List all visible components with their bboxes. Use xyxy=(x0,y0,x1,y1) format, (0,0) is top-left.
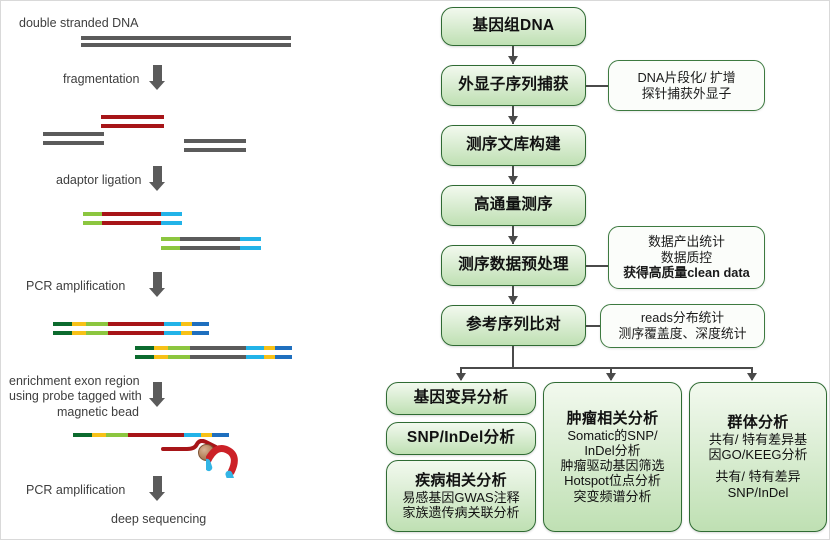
amplified-gray-bottom xyxy=(135,355,292,359)
arrow-fragmentation xyxy=(149,65,165,90)
step-label-enrichment: enrichment exon region using probe tagge… xyxy=(9,374,139,420)
figure-canvas: double stranded DNA fragmentation adapto… xyxy=(0,0,830,540)
flow-node-subline: Hotspot位点分析 xyxy=(564,473,661,488)
arrow-pcr-2 xyxy=(149,476,165,501)
flow-node-title: SNP/InDel分析 xyxy=(407,429,515,447)
arrow-pcr-1 xyxy=(149,272,165,297)
arrow-enrichment xyxy=(149,382,165,407)
note-line: DNA片段化/ 扩增 xyxy=(637,70,735,86)
flow-node-subline: 因GO/KEEG分析 xyxy=(709,447,808,462)
flow-node-title: 基因变异分析 xyxy=(414,389,509,407)
flow-node-subline: 共有/ 特有差异 xyxy=(715,469,800,484)
flow-node-title: 测序文库构建 xyxy=(466,136,561,154)
flow-node-title: 外显子序列捕获 xyxy=(458,76,569,94)
arrow-tip-5 xyxy=(508,296,518,304)
flow-node-tumor-analysis[interactable]: 肿瘤相关分析 Somatic的SNP/ InDel分析 肿瘤驱动基因筛选 Hot… xyxy=(543,382,682,532)
note-capture: DNA片段化/ 扩增 探针捕获外显子 xyxy=(608,60,765,111)
ligated-red-bottom xyxy=(83,221,182,225)
arrow-tip-2 xyxy=(508,116,518,124)
connector-note-2 xyxy=(586,265,609,267)
step-label-fragmentation: fragmentation xyxy=(63,72,139,87)
flow-node-subline: SNP/InDel xyxy=(728,485,789,500)
arrow-tip-1 xyxy=(508,56,518,64)
flow-node-title: 参考序列比对 xyxy=(466,316,561,334)
amplified-gray-top xyxy=(135,346,292,350)
fragment-gray-left-top xyxy=(43,132,104,136)
note-line: 探针捕获外显子 xyxy=(642,86,732,102)
arrow-tip-branch-left xyxy=(456,373,466,381)
flow-node-high-throughput-sequencing[interactable]: 高通量测序 xyxy=(441,185,586,226)
ligated-gray-bottom xyxy=(161,246,261,250)
fragment-gray-left-bottom xyxy=(43,141,104,145)
step-label-adaptor-ligation: adaptor ligation xyxy=(56,173,141,188)
flow-node-population-analysis[interactable]: 群体分析 共有/ 特有差异基 因GO/KEEG分析 共有/ 特有差异 SNP/I… xyxy=(689,382,827,532)
flow-node-subline: Somatic的SNP/ xyxy=(567,428,657,443)
arrow-tip-3 xyxy=(508,176,518,184)
flow-node-snp-indel-analysis[interactable]: SNP/InDel分析 xyxy=(386,422,536,455)
flow-node-title: 肿瘤相关分析 xyxy=(567,410,659,428)
flow-node-title: 基因组DNA xyxy=(473,17,555,35)
note-line: 数据质控 xyxy=(661,250,712,266)
fragment-gray-right-bottom xyxy=(184,148,246,152)
note-preprocessing: 数据产出统计 数据质控 获得高质量clean data xyxy=(608,226,765,289)
connector-note-1 xyxy=(586,85,609,87)
arrow-adaptor-ligation xyxy=(149,166,165,191)
flow-node-title: 群体分析 xyxy=(727,414,788,432)
flow-node-variant-analysis[interactable]: 基因变异分析 xyxy=(386,382,536,415)
ligated-red-top xyxy=(83,212,182,216)
fragment-red-bottom xyxy=(101,124,164,128)
flow-node-subline: InDel分析 xyxy=(584,443,640,458)
dsdna-top-strand xyxy=(81,36,291,40)
flow-node-disease-analysis[interactable]: 疾病相关分析 易感基因GWAS注释 家族遗传病关联分析 xyxy=(386,460,536,532)
flow-node-exome-capture[interactable]: 外显子序列捕获 xyxy=(441,65,586,106)
dsdna-bottom-strand xyxy=(81,43,291,47)
note-line: 数据产出统计 xyxy=(648,234,725,250)
flow-node-data-preprocessing[interactable]: 测序数据预处理 xyxy=(441,245,586,286)
flow-node-subline: 肿瘤驱动基因筛选 xyxy=(560,458,664,473)
flow-node-genomic-dna[interactable]: 基因组DNA xyxy=(441,7,586,46)
branch-bar xyxy=(460,367,752,369)
flow-node-title: 测序数据预处理 xyxy=(458,256,569,274)
note-alignment: reads分布统计 测序覆盖度、深度统计 xyxy=(600,304,765,348)
magnet-icon xyxy=(206,443,248,478)
captured-strand xyxy=(73,433,229,437)
step-label-double-stranded-dna: double stranded DNA xyxy=(19,16,139,31)
note-line: 获得高质量clean data xyxy=(623,265,750,281)
step-label-deep-sequencing: deep sequencing xyxy=(111,512,206,527)
flow-node-reference-alignment[interactable]: 参考序列比对 xyxy=(441,305,586,346)
flow-node-subline: 易感基因GWAS注释 xyxy=(402,490,519,505)
arrow-tip-branch-mid xyxy=(606,373,616,381)
connector-note-3 xyxy=(586,325,601,327)
flow-node-subline: 共有/ 特有差异基 xyxy=(709,432,807,447)
ligated-gray-top xyxy=(161,237,261,241)
fragment-gray-right-top xyxy=(184,139,246,143)
flow-node-title: 疾病相关分析 xyxy=(415,472,507,490)
note-line: reads分布统计 xyxy=(641,310,724,326)
amplified-red-top xyxy=(53,322,209,326)
fragment-red-top xyxy=(101,115,164,119)
flow-node-library-construction[interactable]: 测序文库构建 xyxy=(441,125,586,166)
arrow-tip-branch-right xyxy=(747,373,757,381)
branch-stem xyxy=(512,346,514,368)
step-label-pcr-amplification-1: PCR amplification xyxy=(26,279,125,294)
arrow-tip-4 xyxy=(508,236,518,244)
amplified-red-bottom xyxy=(53,331,209,335)
flow-node-subline: 家族遗传病关联分析 xyxy=(402,505,519,520)
flow-node-title: 高通量测序 xyxy=(474,196,553,214)
step-label-pcr-amplification-2: PCR amplification xyxy=(26,483,125,498)
note-line: 测序覆盖度、深度统计 xyxy=(619,326,747,342)
flow-node-subline: 突变频谱分析 xyxy=(573,489,651,504)
